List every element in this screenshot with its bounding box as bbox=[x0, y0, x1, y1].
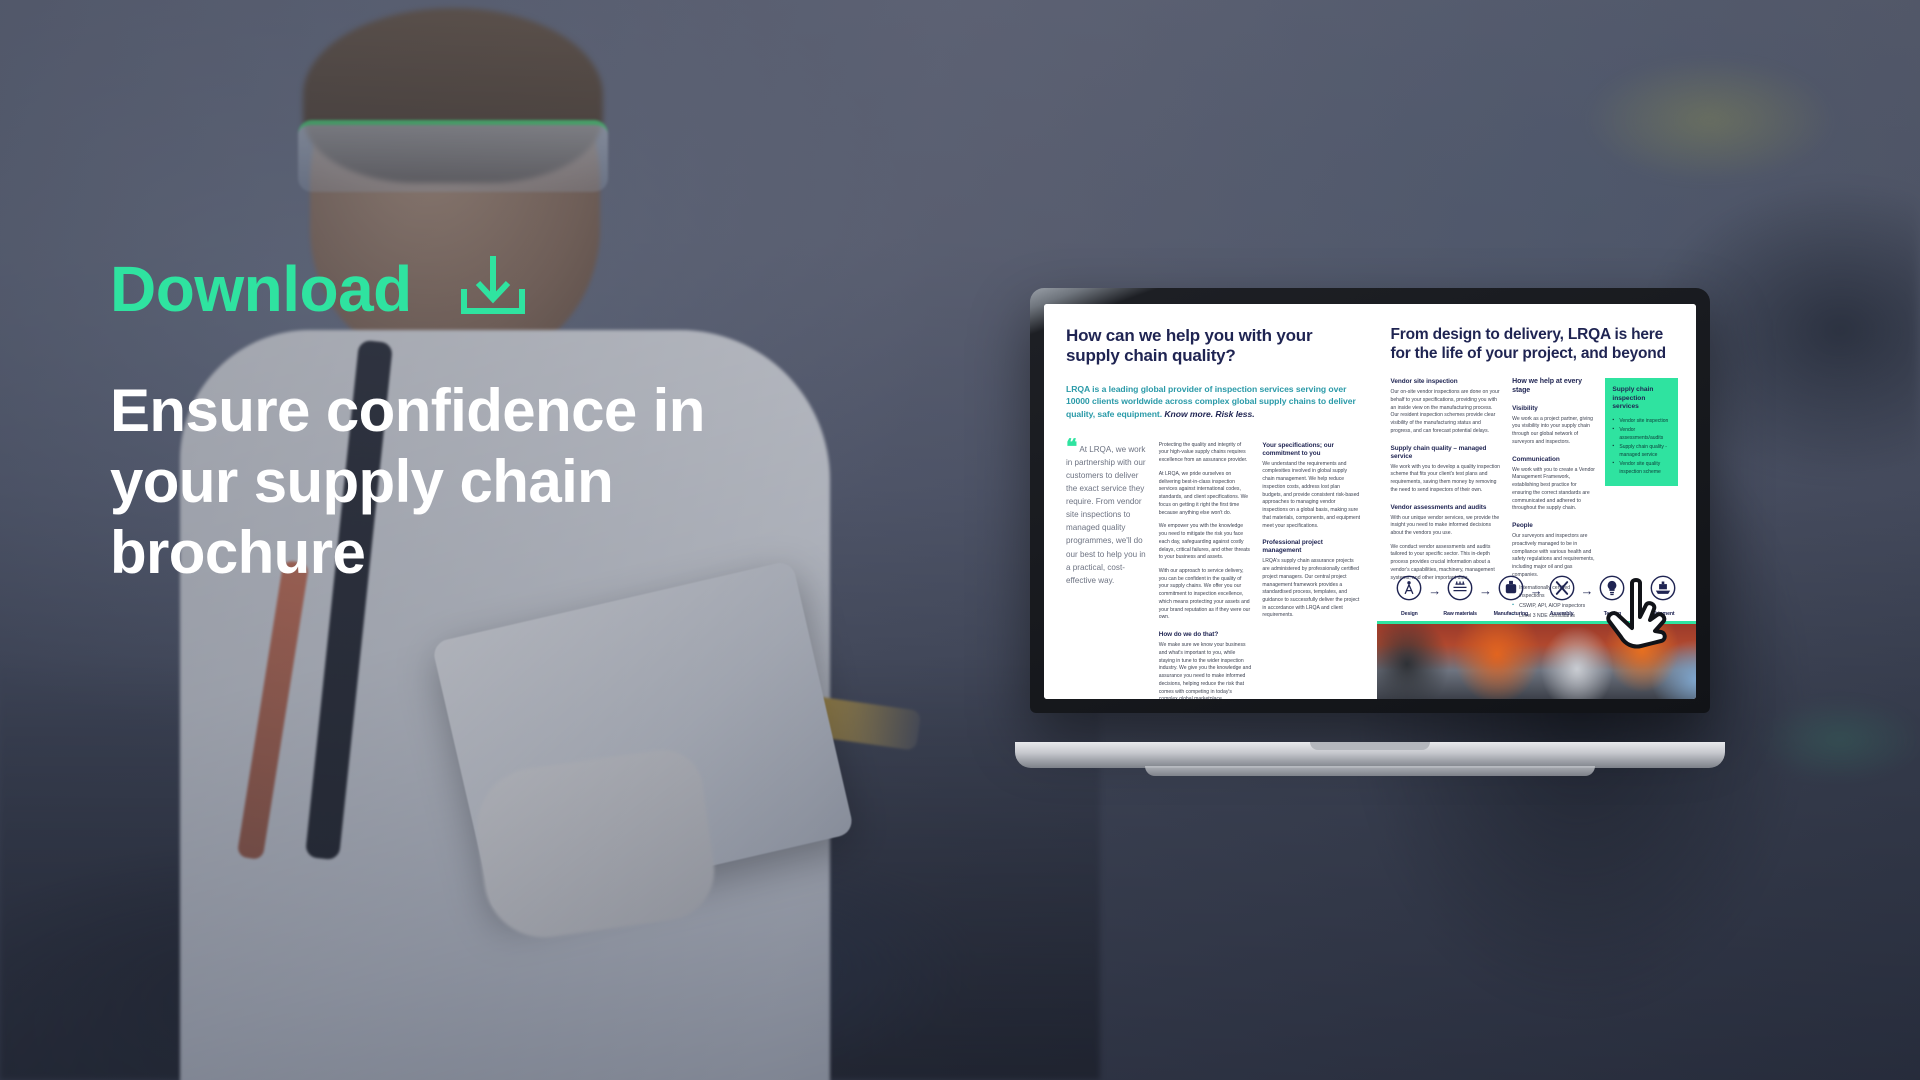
laptop-foot bbox=[1145, 766, 1595, 776]
tools-cross-icon bbox=[1549, 575, 1575, 606]
left-page-columns: ❝At LRQA, we work in partnership with ou… bbox=[1066, 442, 1361, 699]
flow-step-design: Design bbox=[1391, 575, 1429, 617]
services-list: Vendor site inspection Vendor assessment… bbox=[1612, 418, 1671, 477]
intro-emphasis-text: Know more. Risk less. bbox=[1164, 409, 1254, 419]
materials-grid-icon bbox=[1447, 575, 1473, 606]
flow-step-assembly: Assembly bbox=[1543, 575, 1581, 617]
visibility-heading: Visibility bbox=[1512, 405, 1596, 413]
flow-label: Raw materials bbox=[1443, 611, 1477, 617]
body-paragraph: Our on-site vendor inspections are done … bbox=[1391, 389, 1502, 435]
specifications-heading: Your specifications; our commitment to y… bbox=[1262, 442, 1360, 458]
quote-column: ❝At LRQA, we work in partnership with ou… bbox=[1066, 442, 1148, 699]
body-paragraph: At LRQA, we pride ourselves on deliverin… bbox=[1159, 471, 1252, 517]
specifications-column: Your specifications; our commitment to y… bbox=[1262, 442, 1360, 699]
how-do-we-do-that-heading: How do we do that? bbox=[1159, 631, 1252, 639]
right-page-title: From design to delivery, LRQA is here fo… bbox=[1391, 326, 1678, 363]
brochure-page-left: How can we help you with your supply cha… bbox=[1044, 304, 1377, 699]
laptop-lid: How can we help you with your supply cha… bbox=[1030, 288, 1710, 713]
flow-step-manufacturing: Manufacturing bbox=[1492, 575, 1530, 617]
flow-label: Design bbox=[1401, 611, 1418, 617]
hero-copy: Download Ensure confidence in your suppl… bbox=[110, 255, 870, 588]
list-item: Vendor site inspection bbox=[1612, 418, 1671, 426]
body-paragraph: Our surveyors and inspectors are proacti… bbox=[1512, 533, 1596, 579]
vendor-assessments-heading: Vendor assessments and audits bbox=[1391, 504, 1502, 512]
vendor-site-inspection-heading: Vendor site inspection bbox=[1391, 378, 1502, 386]
download-cta[interactable]: Download bbox=[110, 255, 870, 322]
download-label: Download bbox=[110, 257, 412, 321]
flow-label: Manufacturing bbox=[1494, 611, 1528, 617]
supply-chain-services-box: Supply chain inspection services Vendor … bbox=[1605, 378, 1678, 486]
laptop-screen: How can we help you with your supply cha… bbox=[1044, 304, 1696, 699]
laptop-mockup: How can we help you with your supply cha… bbox=[1015, 288, 1725, 768]
every-stage-heading: How we help at every stage bbox=[1512, 378, 1596, 396]
download-arrow-icon[interactable] bbox=[454, 255, 532, 322]
left-page-title: How can we help you with your supply cha… bbox=[1066, 326, 1361, 366]
body-paragraph: We make sure we know your business and w… bbox=[1159, 642, 1252, 699]
left-body-column: Protecting the quality and integrity of … bbox=[1159, 442, 1252, 699]
page-title: Ensure confidence in your supply chain b… bbox=[110, 376, 810, 588]
body-paragraph: We work with you to develop a quality in… bbox=[1391, 464, 1502, 495]
quote-mark-icon: ❝ bbox=[1066, 442, 1075, 455]
body-paragraph: We understand the requirements and compl… bbox=[1262, 461, 1360, 531]
communication-heading: Communication bbox=[1512, 456, 1596, 464]
body-paragraph: We empower you with the knowledge you ne… bbox=[1159, 523, 1252, 562]
project-management-heading: Professional project management bbox=[1262, 539, 1360, 555]
laptop-notch bbox=[1310, 742, 1430, 750]
flow-label: Assembly bbox=[1550, 611, 1574, 617]
arrow-right-icon: → bbox=[1581, 584, 1594, 597]
managed-service-heading: Supply chain quality – managed service bbox=[1391, 445, 1502, 461]
list-item: Supply chain quality - managed service bbox=[1612, 444, 1671, 459]
customer-quote: At LRQA, we work in partnership with our… bbox=[1066, 445, 1146, 585]
list-item: Vendor site quality inspection scheme bbox=[1612, 461, 1671, 476]
arrow-right-icon: → bbox=[1479, 584, 1492, 597]
compass-icon bbox=[1396, 575, 1422, 606]
body-paragraph: With our unique vendor services, we prov… bbox=[1391, 515, 1502, 538]
machine-icon bbox=[1498, 575, 1524, 606]
arrow-right-icon: → bbox=[1530, 584, 1543, 597]
list-item: Vendor assessments/audits bbox=[1612, 427, 1671, 442]
hand-pointer-cursor bbox=[1604, 577, 1682, 669]
body-paragraph: Protecting the quality and integrity of … bbox=[1159, 442, 1252, 465]
body-paragraph: With our approach to service delivery, y… bbox=[1159, 568, 1252, 622]
brochure-page-right: From design to delivery, LRQA is here fo… bbox=[1377, 304, 1696, 699]
arrow-right-icon: → bbox=[1428, 584, 1441, 597]
body-paragraph: LRQA's supply chain assurance projects a… bbox=[1262, 558, 1360, 620]
people-heading: People bbox=[1512, 522, 1596, 530]
services-box-title: Supply chain inspection services bbox=[1612, 386, 1671, 412]
laptop-base bbox=[1015, 742, 1725, 768]
flow-step-raw-materials: Raw materials bbox=[1441, 575, 1479, 617]
left-page-intro: LRQA is a leading global provider of ins… bbox=[1066, 383, 1361, 420]
body-paragraph: We work as a project partner, giving you… bbox=[1512, 416, 1596, 447]
body-paragraph: We work with you to create a Vendor Mana… bbox=[1512, 467, 1596, 513]
